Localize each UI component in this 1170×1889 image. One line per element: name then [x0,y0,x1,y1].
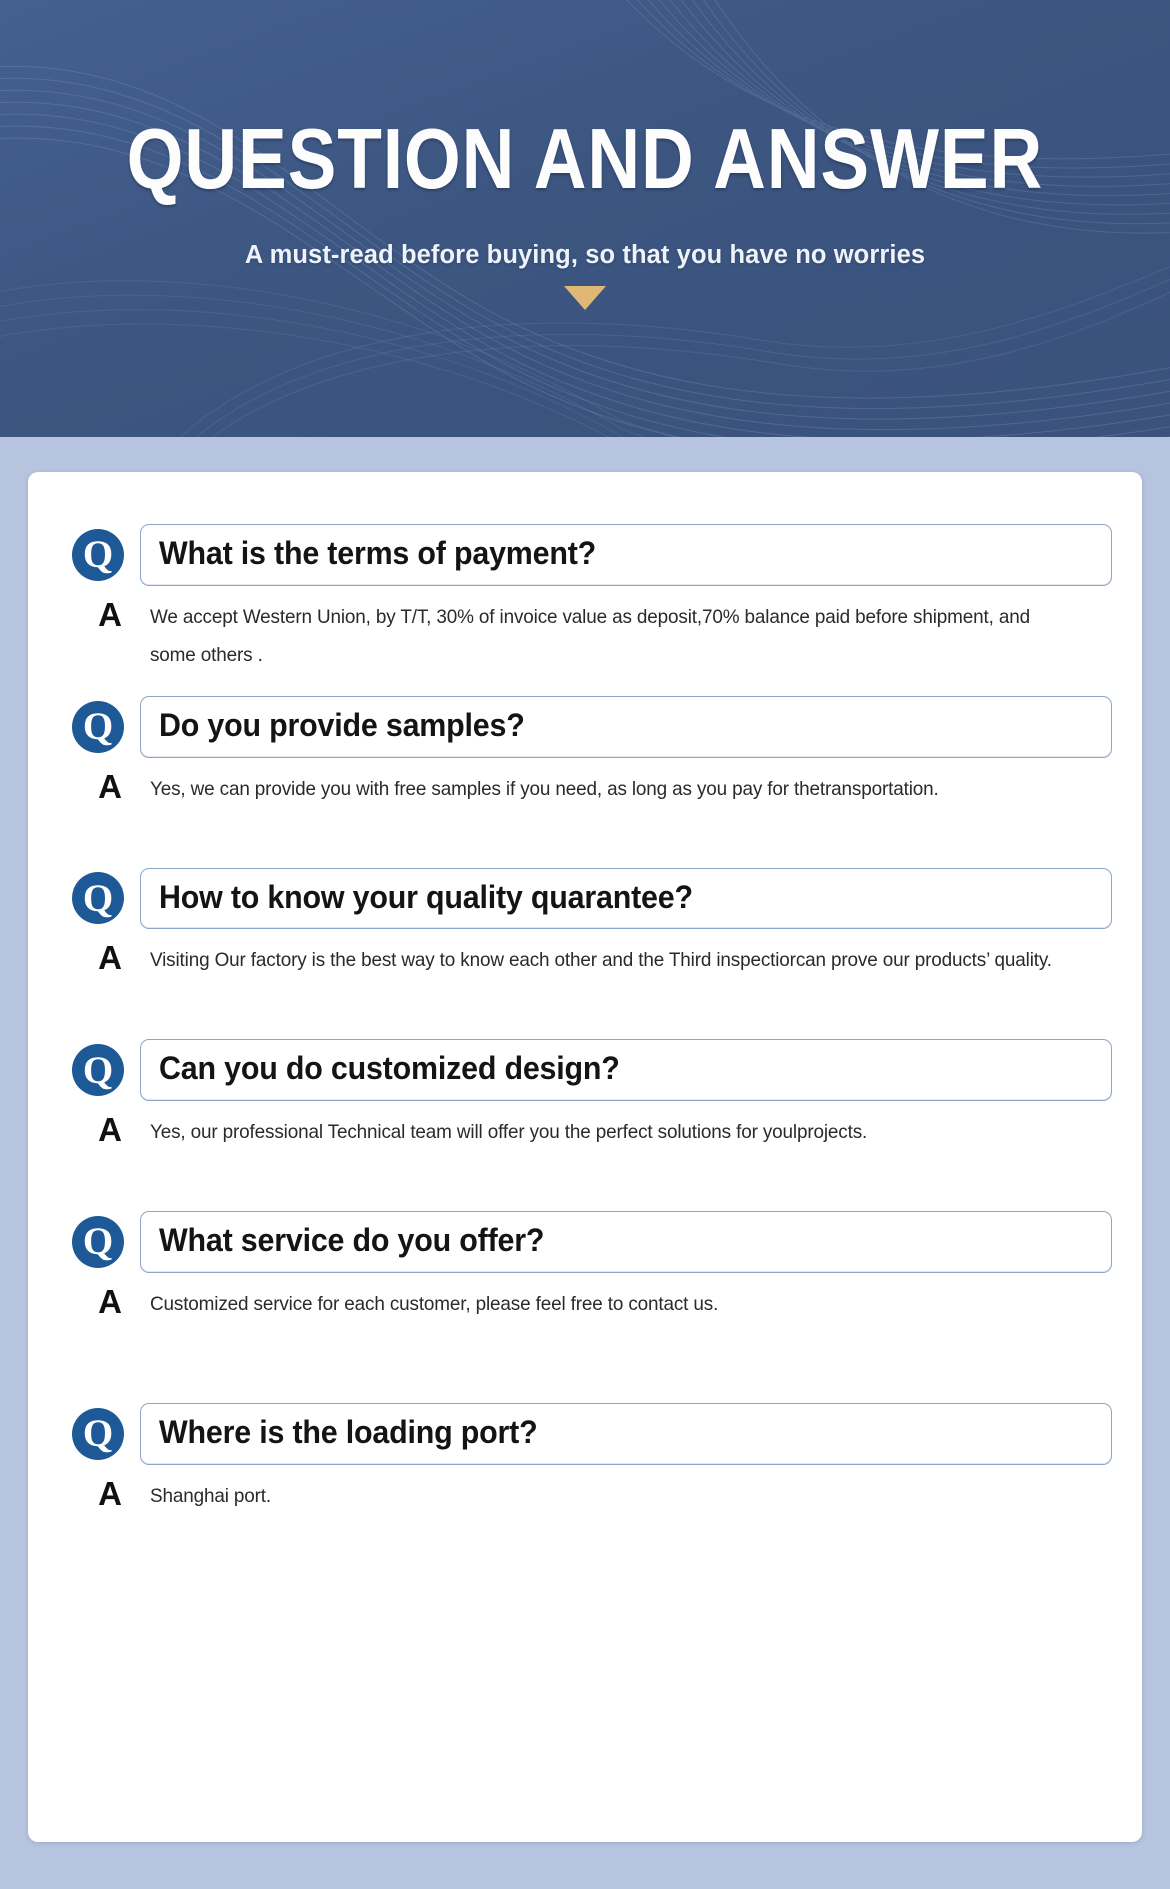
question-text: How to know your quality quarantee? [159,879,1046,917]
faq-page: QUESTION AND ANSWER A must-read before b… [0,0,1170,1889]
faq-card: Q What is the terms of payment? A We acc… [28,472,1142,1842]
page-subtitle: A must-read before buying, so that you h… [245,241,925,270]
question-badge-icon: Q [72,872,124,924]
question-text: What service do you offer? [159,1222,1046,1260]
faq-item: Q What service do you offer? A Customize… [58,1211,1112,1323]
answer-text: Yes, we can provide you with free sample… [150,770,1083,808]
faq-question-row[interactable]: Q Can you do customized design? [58,1039,1112,1101]
faq-item: Q Where is the loading port? A Shanghai … [58,1403,1112,1515]
question-badge-icon: Q [72,1044,124,1096]
question-text: Can you do customized design? [159,1050,1046,1088]
faq-answer-row: A We accept Western Union, by T/T, 30% o… [58,598,1112,674]
question-box[interactable]: Where is the loading port? [140,1403,1112,1465]
banner-content: QUESTION AND ANSWER A must-read before b… [0,0,1170,437]
faq-item: Q How to know your quality quarantee? A … [58,868,1112,980]
faq-answer-row: A Shanghai port. [58,1477,1112,1515]
faq-item: Q Can you do customized design? A Yes, o… [58,1039,1112,1151]
answer-marker: A [84,770,136,805]
answer-text: We accept Western Union, by T/T, 30% of … [150,598,1083,674]
answer-marker: A [84,598,136,633]
question-box[interactable]: Can you do customized design? [140,1039,1112,1101]
faq-question-row[interactable]: Q What is the terms of payment? [58,524,1112,586]
question-badge-icon: Q [72,1408,124,1460]
faq-card-wrapper: Q What is the terms of payment? A We acc… [0,437,1170,1884]
question-text: Do you provide samples? [159,707,1046,745]
question-badge-icon: Q [72,1216,124,1268]
answer-text: Shanghai port. [150,1477,1083,1515]
faq-item: Q Do you provide samples? A Yes, we can … [58,696,1112,808]
answer-marker: A [84,1477,136,1512]
page-title: QUESTION AND ANSWER [127,118,1044,201]
answer-marker: A [84,1113,136,1148]
question-text: What is the terms of payment? [159,535,1046,573]
faq-question-row[interactable]: Q Do you provide samples? [58,696,1112,758]
question-text: Where is the loading port? [159,1414,1046,1452]
question-box[interactable]: How to know your quality quarantee? [140,868,1112,930]
faq-question-row[interactable]: Q What service do you offer? [58,1211,1112,1273]
question-badge-icon: Q [72,701,124,753]
answer-text: Visiting Our factory is the best way to … [150,941,1083,979]
faq-answer-row: A Yes, our professional Technical team w… [58,1113,1112,1151]
answer-text: Customized service for each customer, pl… [150,1285,1083,1323]
question-box[interactable]: What service do you offer? [140,1211,1112,1273]
question-box[interactable]: What is the terms of payment? [140,524,1112,586]
faq-question-row[interactable]: Q Where is the loading port? [58,1403,1112,1465]
header-banner: QUESTION AND ANSWER A must-read before b… [0,0,1170,437]
faq-answer-row: A Customized service for each customer, … [58,1285,1112,1323]
triangle-down-icon [564,286,606,310]
answer-marker: A [84,1285,136,1320]
faq-answer-row: A Visiting Our factory is the best way t… [58,941,1112,979]
question-badge-icon: Q [72,529,124,581]
question-box[interactable]: Do you provide samples? [140,696,1112,758]
faq-question-row[interactable]: Q How to know your quality quarantee? [58,868,1112,930]
faq-answer-row: A Yes, we can provide you with free samp… [58,770,1112,808]
faq-item: Q What is the terms of payment? A We acc… [58,524,1112,674]
answer-marker: A [84,941,136,976]
answer-text: Yes, our professional Technical team wil… [150,1113,1083,1151]
